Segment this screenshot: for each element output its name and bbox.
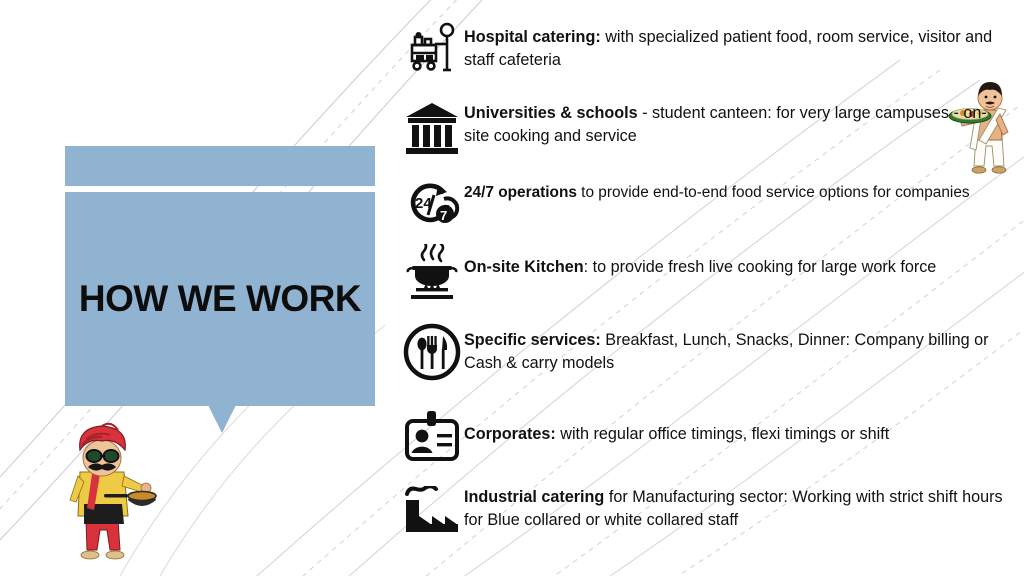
page-title: HOW WE WORK xyxy=(65,192,375,406)
factory-icon xyxy=(400,480,464,544)
svg-text:7: 7 xyxy=(440,208,447,223)
list-item: Industrial catering for Manufacturing se… xyxy=(400,480,1005,544)
list-item-rest: to provide end-to-end food service optio… xyxy=(577,184,970,201)
list-item-text: On-site Kitchen: to provide fresh live c… xyxy=(464,242,936,279)
id-badge-icon xyxy=(400,406,464,470)
hospital-food-trolley-icon xyxy=(400,18,464,82)
list-item-bold: Corporates: xyxy=(464,425,556,443)
rajasthani-chef-with-pan-mascot xyxy=(40,412,172,574)
cutlery-plate-icon xyxy=(400,320,464,384)
list-item-bold: Industrial catering xyxy=(464,488,604,506)
list-item-text: Industrial catering for Manufacturing se… xyxy=(464,480,1005,533)
list-item: Corporates: with regular office timings,… xyxy=(400,406,1000,470)
title-accent-bar xyxy=(65,146,375,186)
24-7-clock-icon: 24 7 xyxy=(400,175,464,239)
list-item: Hospital catering: with specialized pati… xyxy=(400,18,1000,82)
title-box-tail xyxy=(208,405,236,433)
list-item-text: Corporates: with regular office timings,… xyxy=(464,406,889,446)
list-item-bold: Universities & schools xyxy=(464,104,638,122)
list-item-bold: 24/7 operations xyxy=(464,184,577,201)
list-item-bold: On-site Kitchen xyxy=(464,258,584,276)
list-item: Universities & schools - student canteen… xyxy=(400,96,1000,160)
list-item-bold: Specific services: xyxy=(464,331,601,349)
list-item: On-site Kitchen: to provide fresh live c… xyxy=(400,242,1000,306)
list-item: Specific services: Breakfast, Lunch, Sna… xyxy=(400,320,1005,384)
list-item-text: Specific services: Breakfast, Lunch, Sna… xyxy=(464,320,1005,376)
cooking-pot-on-stove-icon xyxy=(400,242,464,306)
list-item-text: Hospital catering: with specialized pati… xyxy=(464,18,1000,73)
list-item-rest: with regular office timings, flexi timin… xyxy=(556,425,889,443)
slide-canvas: HOW WE WORK xyxy=(0,0,1024,576)
list-item-text: 24/7 operations to provide end-to-end fo… xyxy=(464,175,970,204)
list-item-rest: : to provide fresh live cooking for larg… xyxy=(584,258,937,276)
list-item: 24 7 24/7 operations to provide end-to-e… xyxy=(400,175,1000,239)
university-building-icon xyxy=(400,96,464,160)
list-item-text: Universities & schools - student canteen… xyxy=(464,96,1000,149)
list-item-bold: Hospital catering: xyxy=(464,28,601,46)
